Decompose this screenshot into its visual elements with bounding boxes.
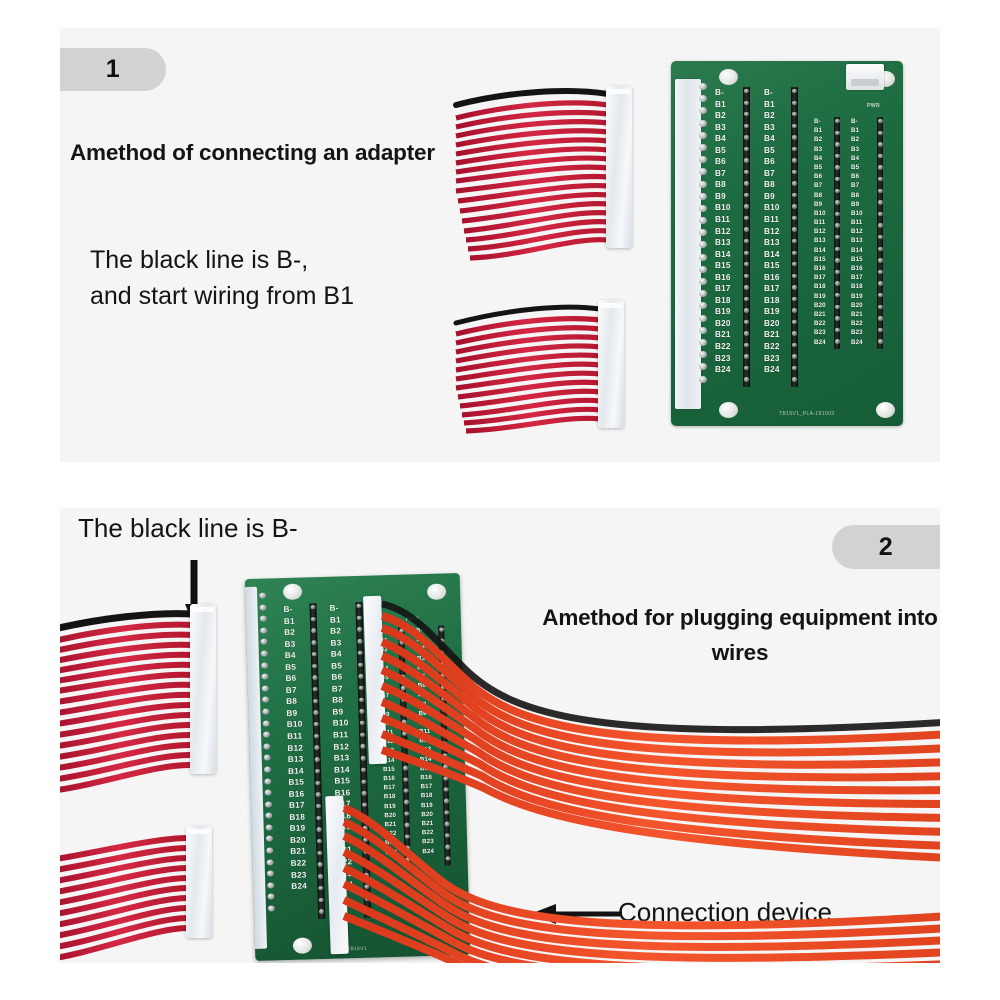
board-pad-label: B15 xyxy=(383,765,395,775)
board-pad-label: B- xyxy=(814,117,826,126)
board-pad-label: B13 xyxy=(814,236,826,245)
header-pin xyxy=(744,320,748,324)
header-pin xyxy=(358,651,363,656)
header-pin xyxy=(362,803,367,808)
board-pad-label: B14 xyxy=(288,765,304,777)
header-pin xyxy=(744,308,748,312)
header-pin xyxy=(792,101,796,105)
board-pad-label: B21 xyxy=(764,329,780,341)
board-pad-label: B19 xyxy=(421,800,433,810)
header-pin xyxy=(792,135,796,139)
board-pad-label: B20 xyxy=(851,301,863,310)
board-pad-label: B4 xyxy=(715,133,731,145)
header-pin xyxy=(311,617,316,622)
board-pad-label: B13 xyxy=(334,752,350,764)
board-pad-label: B6 xyxy=(851,172,863,181)
header-pin xyxy=(360,733,365,738)
header-pin xyxy=(443,742,448,747)
header-pin xyxy=(792,158,796,162)
panel-1-title: Amethod of connecting an adapter xyxy=(70,140,435,166)
screw-hole-top-left xyxy=(719,69,738,85)
board2-screw-top-left xyxy=(283,583,302,600)
header-pin xyxy=(405,823,410,828)
board-pad-label: B8 xyxy=(814,191,826,200)
pin-header-2 xyxy=(791,87,798,387)
board-pad-label: B14 xyxy=(764,249,780,261)
header-pin xyxy=(878,165,882,169)
board-left-pins xyxy=(699,83,708,405)
board-pad-label: B4 xyxy=(851,154,863,163)
board-pad-label: B7 xyxy=(814,181,826,190)
header-pin xyxy=(792,377,796,381)
header-pin xyxy=(835,258,839,262)
board-pad-label: B15 xyxy=(814,255,826,264)
board-pad-label: B5 xyxy=(764,145,780,157)
header-pin xyxy=(358,662,363,667)
header-pin xyxy=(363,814,368,819)
header-pin xyxy=(744,331,748,335)
board-pad-label: B4 xyxy=(764,133,780,145)
header-pin xyxy=(878,142,882,146)
header-pin xyxy=(316,781,321,786)
board-pad-label: B4 xyxy=(417,663,429,673)
header-pin xyxy=(446,856,451,861)
board-pad-label: B12 xyxy=(814,227,826,236)
board-pad-label: B11 xyxy=(419,727,431,737)
header-pin xyxy=(878,339,882,343)
header-pin xyxy=(878,212,882,216)
header-pin xyxy=(744,135,748,139)
board-pad-label: B13 xyxy=(715,237,731,249)
header-pin xyxy=(400,629,405,634)
board-pad-label: B8 xyxy=(418,699,430,709)
board-pad-label: B3 xyxy=(814,145,826,154)
header-pin xyxy=(835,189,839,193)
board-pad-label: B5 xyxy=(331,660,347,672)
header-pin xyxy=(361,744,366,749)
header-pin xyxy=(400,640,405,645)
header-pin xyxy=(878,223,882,227)
header-pin xyxy=(444,787,449,792)
board-pad-label: B21 xyxy=(421,819,433,829)
board-pad-label: B13 xyxy=(764,237,780,249)
board-pad-label: B1 xyxy=(330,614,346,626)
board-pad-label: B21 xyxy=(715,329,731,341)
board-pad-label: B17 xyxy=(764,283,780,295)
board-pad-label: B16 xyxy=(851,264,863,273)
adapter-board-photo: PWR B-B1B2B3B4B5B6B7B8B9B10B11B12B13B14B… xyxy=(671,61,903,426)
board2-label-column-1: B-B1B2B3B4B5B6B7B8B9B10B11B12B13B14B15B1… xyxy=(283,604,307,893)
header-pin xyxy=(744,204,748,208)
header-pin xyxy=(744,101,748,105)
board-pad-label: B17 xyxy=(814,273,826,282)
board-pad-label: B19 xyxy=(290,823,306,835)
header-pin xyxy=(792,274,796,278)
board-pad-label: B4 xyxy=(814,154,826,163)
board-pad-label: B13 xyxy=(419,745,431,755)
header-pin xyxy=(316,792,321,797)
board-pad-label: B12 xyxy=(715,226,731,238)
board-pad-label: B16 xyxy=(289,788,305,800)
header-pin xyxy=(445,833,450,838)
header-pin xyxy=(835,235,839,239)
board-pad-label: B15 xyxy=(420,764,432,774)
header-pin xyxy=(744,377,748,381)
board-pad-label: B11 xyxy=(764,214,780,226)
board-pad-label: B4 xyxy=(285,650,301,662)
board-pad-label: B24 xyxy=(291,881,307,893)
board-pad-label: B23 xyxy=(715,353,731,365)
header-pin xyxy=(835,131,839,135)
board-pad-label: B15 xyxy=(851,255,863,264)
board-pad-label: B19 xyxy=(384,802,396,812)
board-pad-label: B12 xyxy=(764,226,780,238)
board-pad-label: B9 xyxy=(814,200,826,209)
board-pad-label: B18 xyxy=(814,282,826,291)
header-pin xyxy=(792,216,796,220)
header-pin xyxy=(359,674,364,679)
header-pin xyxy=(314,722,319,727)
header-pin xyxy=(442,708,447,713)
header-pin xyxy=(835,247,839,251)
board-pad-label: B- xyxy=(851,117,863,126)
board-pad-label: B12 xyxy=(419,736,431,746)
header-pin xyxy=(835,154,839,158)
board-pad-label: B20 xyxy=(814,301,826,310)
board-pad-label: B5 xyxy=(715,145,731,157)
header-pin xyxy=(835,328,839,332)
header-pin xyxy=(317,827,322,832)
board-pad-label: B23 xyxy=(422,837,434,847)
header-pin xyxy=(316,804,321,809)
header-pin xyxy=(358,639,363,644)
header-pin xyxy=(402,720,407,725)
board-pad-label: B22 xyxy=(764,341,780,353)
board-pad-label: B11 xyxy=(333,729,349,741)
header-pin xyxy=(443,753,448,758)
header-pin xyxy=(744,170,748,174)
board-pad-label: B16 xyxy=(383,774,395,784)
header-pin xyxy=(313,675,318,680)
header-pin xyxy=(365,908,370,913)
board-pad-label: B20 xyxy=(715,318,731,330)
board-pad-label: B5 xyxy=(285,661,301,673)
panel-1-subtitle-line-2: and start wiring from B1 xyxy=(90,279,354,315)
header-pin xyxy=(835,316,839,320)
board2-pin-header-3 xyxy=(398,627,411,867)
board-pad-label: B10 xyxy=(419,718,431,728)
board-label-column-4: B-B1B2B3B4B5B6B7B8B9B10B11B12B13B14B15B1… xyxy=(851,117,863,347)
board-pad-label: B11 xyxy=(715,214,731,226)
header-pin xyxy=(835,119,839,123)
board-pad-label: B7 xyxy=(418,690,430,700)
header-pin xyxy=(318,862,323,867)
header-pin xyxy=(792,239,796,243)
board-pad-label: B14 xyxy=(420,755,432,765)
header-pin xyxy=(744,227,748,231)
board-pad-label: B14 xyxy=(814,246,826,255)
header-pin xyxy=(878,258,882,262)
header-pin xyxy=(878,131,882,135)
board-pad-label: B21 xyxy=(814,310,826,319)
header-pin xyxy=(363,826,368,831)
board-pad-label: B23 xyxy=(814,328,826,337)
board-pad-label: B1 xyxy=(715,99,731,111)
connection-device-annotation: Connection device xyxy=(618,894,832,931)
header-pin xyxy=(835,270,839,274)
header-pin xyxy=(835,212,839,216)
board-pad-label: B17 xyxy=(383,783,395,793)
board-pad-label: B11 xyxy=(851,218,863,227)
board-pad-label: B3 xyxy=(764,122,780,134)
board-pad-label: B7 xyxy=(286,684,302,696)
header-pin xyxy=(401,697,406,702)
board-pad-label: B19 xyxy=(764,306,780,318)
board-pad-label: B4 xyxy=(331,648,347,660)
header-pin xyxy=(441,696,446,701)
header-pin xyxy=(878,247,882,251)
board-pad-label: B1 xyxy=(416,635,428,645)
board-pad-label: B17 xyxy=(289,800,305,812)
header-pin xyxy=(319,909,324,914)
header-pin xyxy=(878,328,882,332)
board-pad-label: B8 xyxy=(851,191,863,200)
board-pad-label: B6 xyxy=(715,156,731,168)
board-pad-label: B6 xyxy=(418,681,430,691)
board-pad-label: B2 xyxy=(417,644,429,654)
header-pin xyxy=(792,147,796,151)
header-pin xyxy=(315,769,320,774)
board-pad-label: B23 xyxy=(385,838,397,848)
board-pad-label: B2 xyxy=(284,627,300,639)
board-left-connector xyxy=(675,79,701,409)
header-pin xyxy=(744,274,748,278)
header-pin xyxy=(878,270,882,274)
header-pin xyxy=(440,650,445,655)
header-pin xyxy=(363,838,368,843)
header-pin xyxy=(835,293,839,297)
board-pad-label: B17 xyxy=(420,782,432,792)
board-pad-label: B22 xyxy=(422,828,434,838)
upper-harness-connector xyxy=(606,86,632,248)
header-pin xyxy=(364,850,369,855)
header-pin xyxy=(312,629,317,634)
board-pad-label: B3 xyxy=(330,637,346,649)
board-pad-label: B2 xyxy=(330,625,346,637)
board2-pwr-label: PWR xyxy=(406,616,419,622)
board-pad-label: B3 xyxy=(851,145,863,154)
board-pad-label: B18 xyxy=(851,282,863,291)
header-pin xyxy=(792,320,796,324)
panel-2-lower-harness-connector xyxy=(186,826,212,938)
header-pin xyxy=(403,766,408,771)
header-pin xyxy=(443,765,448,770)
screw-hole-bottom-right xyxy=(876,402,895,418)
board-pad-label: B9 xyxy=(418,709,430,719)
header-pin xyxy=(792,331,796,335)
header-pin xyxy=(445,810,450,815)
header-pin xyxy=(357,604,362,609)
board-pad-label: B20 xyxy=(764,318,780,330)
board-pad-label: B16 xyxy=(814,264,826,273)
board-pad-label: B7 xyxy=(764,168,780,180)
header-pin xyxy=(365,885,370,890)
header-pin xyxy=(744,343,748,347)
header-pin xyxy=(792,285,796,289)
board-pad-label: B14 xyxy=(715,249,731,261)
header-pin xyxy=(878,119,882,123)
board-label-column-3: B-B1B2B3B4B5B6B7B8B9B10B11B12B13B14B15B1… xyxy=(814,117,826,347)
header-pin xyxy=(360,721,365,726)
header-pin xyxy=(406,857,411,862)
header-pin xyxy=(318,874,323,879)
board-pad-label: B22 xyxy=(851,319,863,328)
header-pin xyxy=(364,873,369,878)
header-pin xyxy=(312,640,317,645)
header-pin xyxy=(359,686,364,691)
header-pin xyxy=(404,789,409,794)
header-pin xyxy=(311,605,316,610)
board-pad-label: B6 xyxy=(285,673,301,685)
header-pin xyxy=(744,193,748,197)
board-pad-label: B18 xyxy=(384,792,396,802)
board-pad-label: B9 xyxy=(286,707,302,719)
panel-1-subtitle: The black line is B-, and start wiring f… xyxy=(90,243,354,314)
header-pin xyxy=(357,627,362,632)
board-pad-label: B12 xyxy=(333,741,349,753)
board-pad-label: B10 xyxy=(287,719,303,731)
header-pin xyxy=(403,743,408,748)
screw-hole-bottom-left xyxy=(719,402,738,418)
board2-label-column-4: B-B1B2B3B4B5B6B7B8B9B10B11B12B13B14B15B1… xyxy=(416,626,434,856)
board-pad-label: B2 xyxy=(715,110,731,122)
board-pad-label: B6 xyxy=(764,156,780,168)
header-pin xyxy=(365,896,370,901)
board-pad-label: B11 xyxy=(287,731,303,743)
instruction-panel-1: 1 Amethod of connecting an adapter The b… xyxy=(60,28,940,462)
board-pad-label: B6 xyxy=(814,172,826,181)
board-pad-label: B5 xyxy=(814,163,826,172)
board-pad-label: B2 xyxy=(851,135,863,144)
power-connector xyxy=(846,64,884,90)
board2-pin-header-1 xyxy=(309,603,325,919)
header-pin xyxy=(406,846,411,851)
board-pad-label: B15 xyxy=(715,260,731,272)
board-pad-label: B2 xyxy=(764,110,780,122)
board-pad-label: B9 xyxy=(332,706,348,718)
header-pin xyxy=(403,754,408,759)
header-pin xyxy=(792,204,796,208)
header-pin xyxy=(312,652,317,657)
board-pad-label: B19 xyxy=(715,306,731,318)
board-pad-label: B3 xyxy=(715,122,731,134)
header-pin xyxy=(878,200,882,204)
header-pin xyxy=(357,616,362,621)
board-pad-label: B18 xyxy=(764,295,780,307)
board-pad-label: B23 xyxy=(291,869,307,881)
header-pin xyxy=(792,251,796,255)
header-pin xyxy=(401,674,406,679)
board-pad-label: B9 xyxy=(764,191,780,203)
board-pad-label: B22 xyxy=(814,319,826,328)
board-pad-label: B17 xyxy=(851,273,863,282)
header-pin xyxy=(835,177,839,181)
header-pin xyxy=(446,845,451,850)
header-pin xyxy=(792,170,796,174)
header-pin xyxy=(744,285,748,289)
board-pad-label: B21 xyxy=(384,820,396,830)
header-pin xyxy=(835,200,839,204)
step-badge-2: 2 xyxy=(832,525,940,569)
header-pin xyxy=(792,343,796,347)
board-pad-label: B19 xyxy=(851,292,863,301)
board-pad-label: B24 xyxy=(715,364,731,376)
board-pad-label: B15 xyxy=(334,775,350,787)
header-pin xyxy=(361,756,366,761)
header-pin xyxy=(362,791,367,796)
lower-left-harness xyxy=(60,838,188,959)
header-pin xyxy=(835,223,839,227)
board-label-column-1: B-B1B2B3B4B5B6B7B8B9B10B11B12B13B14B15B1… xyxy=(715,87,731,376)
board-pad-label: B21 xyxy=(290,846,306,858)
board-pad-label: B24 xyxy=(764,364,780,376)
board2-screw-bottom-left xyxy=(293,937,312,954)
board-pad-label: B20 xyxy=(384,811,396,821)
board-pad-label: B21 xyxy=(851,310,863,319)
header-pin xyxy=(319,886,324,891)
header-pin xyxy=(792,193,796,197)
header-pin xyxy=(878,154,882,158)
upper-harness-wires xyxy=(456,91,608,258)
header-pin xyxy=(362,779,367,784)
header-pin xyxy=(878,177,882,181)
board-pad-label: B24 xyxy=(385,847,397,857)
board-pad-label: B8 xyxy=(764,179,780,191)
panel-2-upper-harness-connector xyxy=(190,604,216,774)
board-pad-label: B24 xyxy=(814,338,826,347)
header-pin xyxy=(835,281,839,285)
pin-header-3 xyxy=(834,117,840,349)
header-pin xyxy=(317,816,322,821)
header-pin xyxy=(835,142,839,146)
adapter-board-photo-angled: B-B1B2B3B4B5B6B7B8B9B10B11B12B13B14B15B1… xyxy=(245,573,471,961)
header-pin xyxy=(744,147,748,151)
header-pin xyxy=(792,297,796,301)
header-pin xyxy=(744,124,748,128)
board-pad-label: B14 xyxy=(334,764,350,776)
lower-harness-connector xyxy=(598,300,624,428)
header-pin xyxy=(744,216,748,220)
board-pad-label: B7 xyxy=(715,168,731,180)
header-pin xyxy=(792,89,796,93)
header-pin xyxy=(744,262,748,266)
header-pin xyxy=(404,800,409,805)
board-pad-label: B16 xyxy=(715,272,731,284)
board-pad-label: B- xyxy=(416,626,428,636)
pin-header-1 xyxy=(743,87,750,387)
header-pin xyxy=(792,181,796,185)
header-pin xyxy=(315,757,320,762)
board-pad-label: B10 xyxy=(764,202,780,214)
header-pin xyxy=(359,697,364,702)
board-pad-label: B13 xyxy=(288,754,304,766)
board2-screw-top-right xyxy=(427,583,446,600)
board-pad-label: B8 xyxy=(715,179,731,191)
board-pad-label: B12 xyxy=(851,227,863,236)
board-pad-label: B13 xyxy=(851,236,863,245)
header-pin xyxy=(440,628,445,633)
header-pin xyxy=(361,768,366,773)
